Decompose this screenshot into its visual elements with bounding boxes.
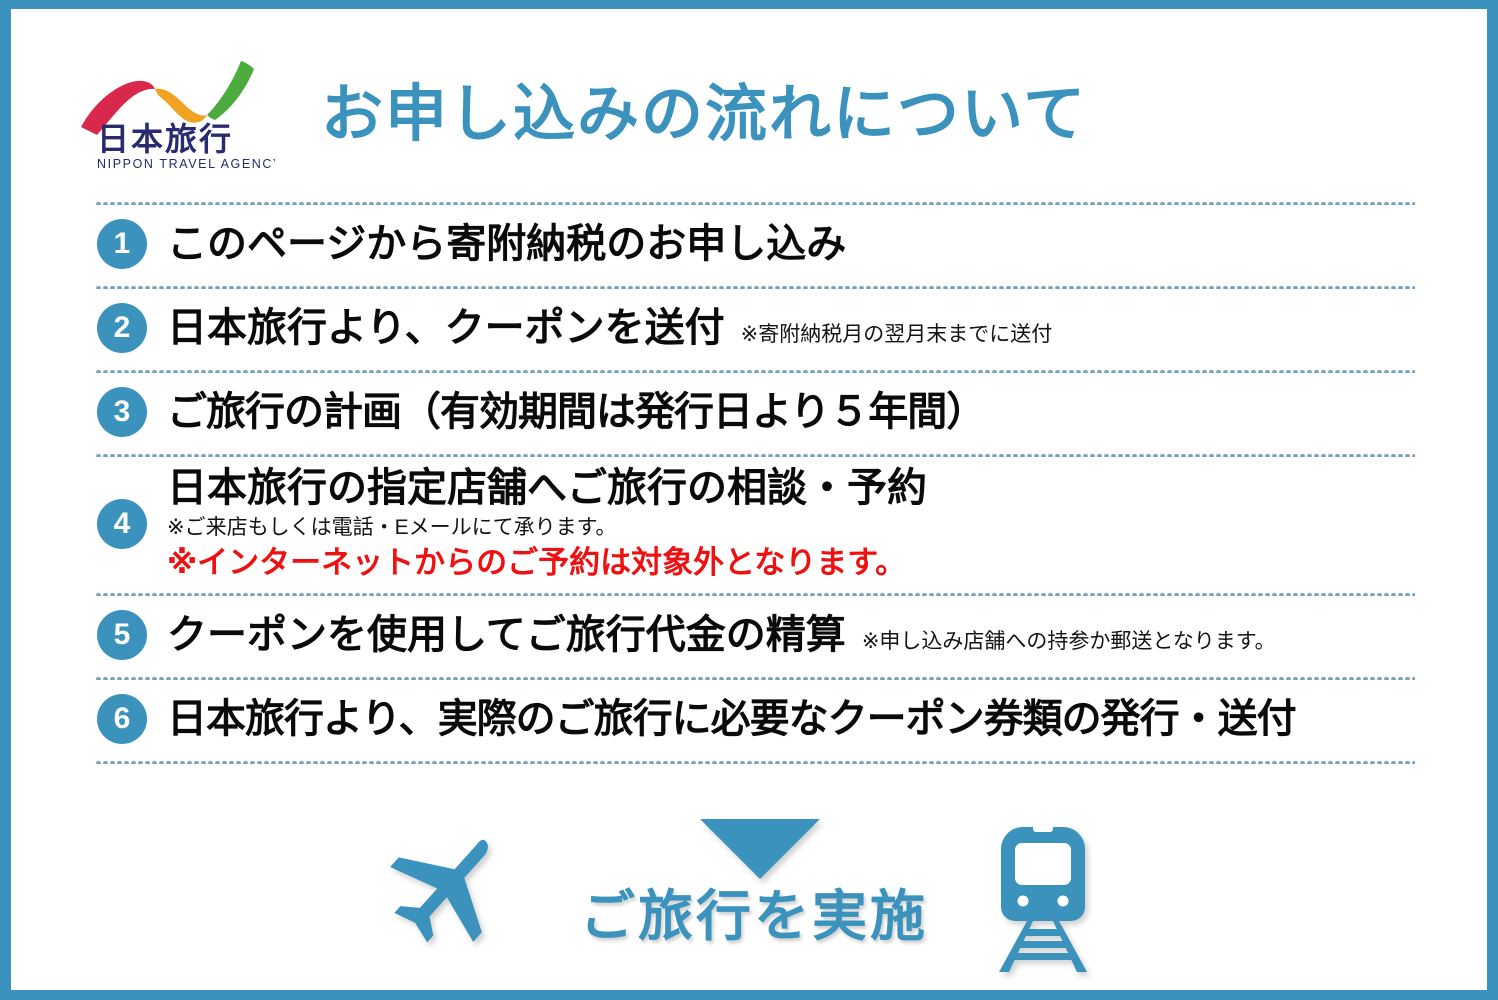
step-body: クーポンを使用してご旅行代金の精算 ※申し込み店舗への持参か郵送となります。 (167, 613, 1415, 658)
step-title: クーポンを使用してご旅行代金の精算 (167, 613, 846, 658)
footer-section: ご旅行を実施 (95, 809, 1415, 989)
divider (95, 283, 1415, 289)
step-subnote: ※ご来店もしくは電話・Eメールにて承ります。 (167, 515, 1415, 541)
train-icon (995, 825, 1091, 980)
step-main: 日本旅行より、クーポンを送付 ※寄附納税月の翌月末までに送付 (167, 306, 1415, 351)
frame-bottom-border (0, 990, 1498, 1000)
infographic-page: 日本旅行 NIPPON TRAVEL AGENCY お申し込みの流れについて 1… (0, 0, 1498, 1000)
step-title: 日本旅行の指定店舗へご旅行の相談・予約 (167, 466, 927, 511)
frame-top-border (0, 0, 1498, 9)
step-number-badge: 6 (97, 694, 147, 744)
logo-icon: 日本旅行 NIPPON TRAVEL AGENCY (75, 55, 275, 175)
step-number-badge: 1 (97, 219, 147, 269)
step-row: 6 日本旅行より、実際のご旅行に必要なクーポン券類の発行・送付 (95, 680, 1415, 758)
step-row: 5 クーポンを使用してご旅行代金の精算 ※申し込み店舗への持参か郵送となります。 (95, 596, 1415, 674)
step-note: ※申し込み店舗への持参か郵送となります。 (862, 630, 1276, 653)
step-title: このページから寄附納税のお申し込み (167, 222, 846, 267)
step-number-badge: 3 (97, 387, 147, 437)
page-title: お申し込みの流れについて (321, 84, 1087, 146)
step-number-badge: 5 (97, 610, 147, 660)
svg-text:日本旅行: 日本旅行 (97, 121, 233, 157)
step-title: 日本旅行より、クーポンを送付 (167, 306, 725, 351)
airplane-icon (385, 821, 515, 956)
step-main: 日本旅行より、実際のご旅行に必要なクーポン券類の発行・送付 (167, 697, 1415, 742)
frame-right-border (1487, 0, 1498, 1000)
step-main: このページから寄附納税のお申し込み (167, 222, 1415, 267)
divider (95, 451, 1415, 457)
divider (95, 758, 1415, 764)
step-main: クーポンを使用してご旅行代金の精算 ※申し込み店舗への持参か郵送となります。 (167, 613, 1415, 658)
step-body: 日本旅行の指定店舗へご旅行の相談・予約 ※ご来店もしくは電話・Eメールにて承りま… (167, 466, 1415, 581)
svg-text:NIPPON TRAVEL AGENCY: NIPPON TRAVEL AGENCY (97, 157, 275, 171)
step-row: 4 日本旅行の指定店舗へご旅行の相談・予約 ※ご来店もしくは電話・Eメールにて承… (95, 457, 1415, 590)
step-main: 日本旅行の指定店舗へご旅行の相談・予約 (167, 466, 1415, 511)
divider (95, 367, 1415, 373)
page-inner: 日本旅行 NIPPON TRAVEL AGENCY お申し込みの流れについて 1… (11, 9, 1487, 990)
step-body: このページから寄附納税のお申し込み (167, 222, 1415, 267)
step-row: 2 日本旅行より、クーポンを送付 ※寄附納税月の翌月末までに送付 (95, 289, 1415, 367)
divider (95, 674, 1415, 680)
travel-execute-label: ご旅行を実施 (580, 871, 928, 951)
step-row: 1 このページから寄附納税のお申し込み (95, 205, 1415, 283)
step-body: 日本旅行より、クーポンを送付 ※寄附納税月の翌月末までに送付 (167, 306, 1415, 351)
frame-left-border (0, 0, 11, 1000)
divider (95, 199, 1415, 205)
step-number-badge: 4 (97, 499, 147, 549)
step-warning: ※インターネットからのご予約は対象外となります。 (167, 544, 1415, 581)
step-title: 日本旅行より、実際のご旅行に必要なクーポン券類の発行・送付 (167, 697, 1296, 742)
step-body: ご旅行の計画（有効期間は発行日より５年間） (167, 390, 1415, 435)
page-header: 日本旅行 NIPPON TRAVEL AGENCY お申し込みの流れについて (75, 45, 1415, 185)
step-title: ご旅行の計画（有効期間は発行日より５年間） (167, 390, 985, 435)
step-number-badge: 2 (97, 303, 147, 353)
step-main: ご旅行の計画（有効期間は発行日より５年間） (167, 390, 1415, 435)
nippon-travel-agency-logo: 日本旅行 NIPPON TRAVEL AGENCY (75, 55, 275, 175)
step-body: 日本旅行より、実際のご旅行に必要なクーポン券類の発行・送付 (167, 697, 1415, 742)
divider (95, 590, 1415, 596)
steps-list: 1 このページから寄附納税のお申し込み 2 日本旅行より、クーポンを送付 ※寄附… (95, 199, 1415, 764)
step-note: ※寄附納税月の翌月末までに送付 (741, 323, 1053, 346)
step-row: 3 ご旅行の計画（有効期間は発行日より５年間） (95, 373, 1415, 451)
